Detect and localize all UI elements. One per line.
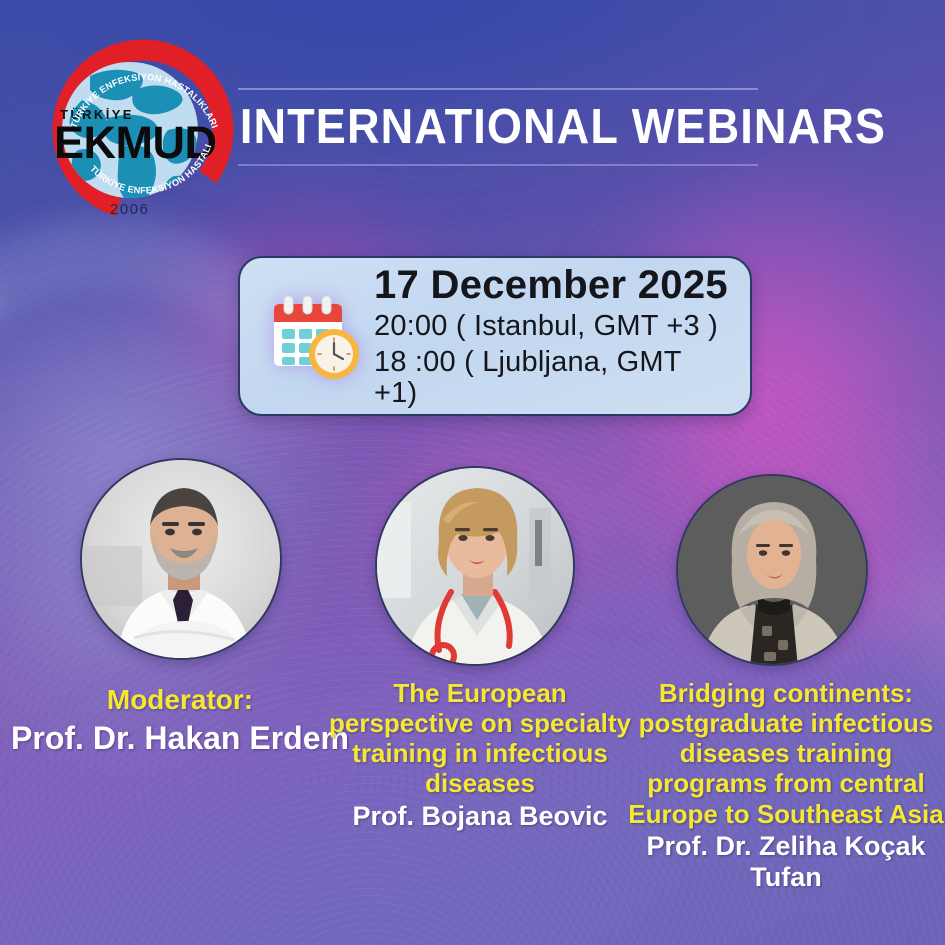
page-title: INTERNATIONAL WEBINARS bbox=[238, 90, 716, 164]
calendar-clock-icon bbox=[266, 288, 362, 384]
speaker-photo-hakan-erdem bbox=[80, 458, 282, 660]
event-date: 17 December 2025 bbox=[374, 264, 732, 306]
moderator-name: Prof. Dr. Hakan Erdem bbox=[4, 720, 356, 757]
webinar-poster: TÜRKİYE EKMUD 2006 TÜRKİYE ENFEKSİYON HA… bbox=[0, 0, 945, 945]
poster-header: TÜRKİYE EKMUD 2006 TÜRKİYE ENFEKSİYON HA… bbox=[0, 0, 945, 250]
event-datetime-card: 17 December 2025 20:00 ( Istanbul, GMT +… bbox=[238, 256, 752, 416]
speaker-photo-bojana-beovic bbox=[375, 466, 575, 666]
event-time-ljubljana: 18 :00 ( Ljubljana, GMT +1) bbox=[374, 347, 732, 408]
logo-year: 2006 bbox=[110, 201, 149, 218]
speaker-caption-kocak-tufan: Bridging continents: postgraduate infect… bbox=[628, 678, 944, 893]
speaker-name-beovic: Prof. Bojana Beovic bbox=[326, 801, 634, 832]
speaker-caption-beovic: The European perspective on specialty tr… bbox=[326, 678, 634, 832]
talk-title-beovic: The European perspective on specialty tr… bbox=[326, 678, 634, 799]
event-time-istanbul: 20:00 ( Istanbul, GMT +3 ) bbox=[374, 311, 732, 342]
ekmud-logo: TÜRKİYE EKMUD 2006 TÜRKİYE ENFEKSİYON HA… bbox=[38, 18, 248, 236]
talk-title-kocak-tufan: Bridging continents: postgraduate infect… bbox=[628, 678, 944, 829]
speaker-name-kocak-tufan: Prof. Dr. Zeliha Koçak Tufan bbox=[628, 831, 944, 894]
speaker-caption-moderator: Moderator: Prof. Dr. Hakan Erdem bbox=[4, 684, 356, 758]
title-block: INTERNATIONAL WEBINARS bbox=[238, 88, 758, 166]
title-rule-bottom bbox=[238, 164, 758, 166]
event-datetime-text: 17 December 2025 20:00 ( Istanbul, GMT +… bbox=[374, 264, 732, 409]
moderator-role-label: Moderator: bbox=[4, 684, 356, 716]
speaker-photo-zeliha-kocak-tufan bbox=[676, 474, 868, 666]
